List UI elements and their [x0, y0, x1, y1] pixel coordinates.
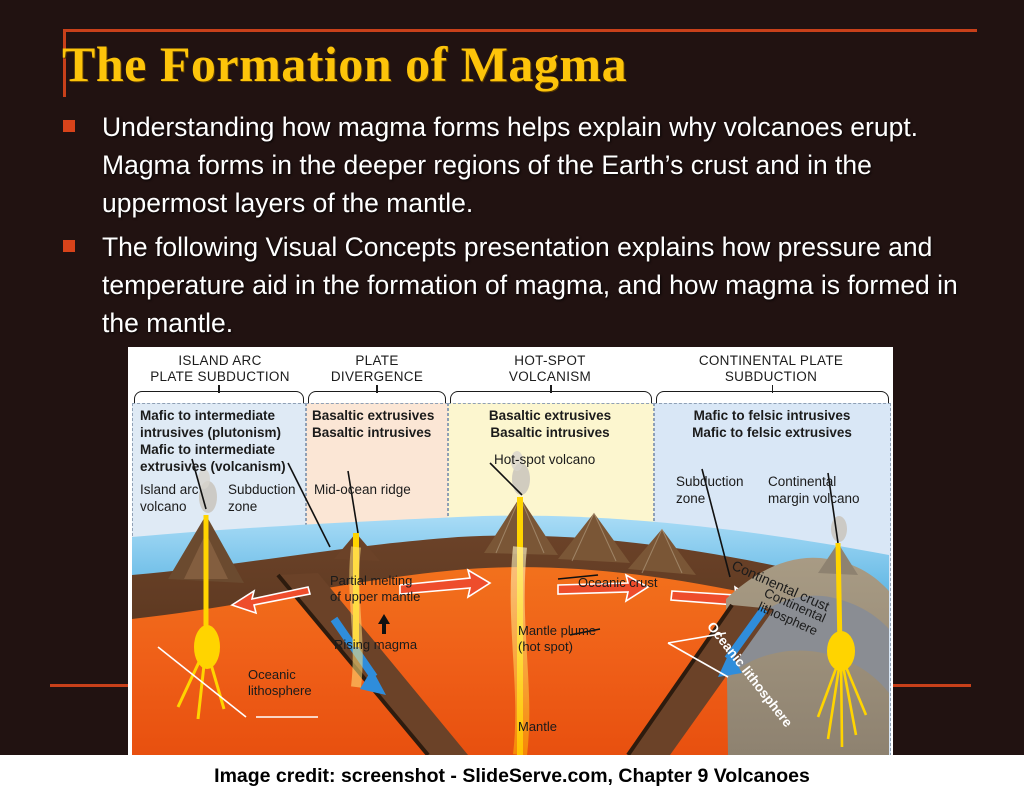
label-oceanic-crust: Oceanic crust	[578, 575, 657, 591]
rock-line: extrusives (volcanism)	[140, 458, 302, 475]
list-item: Understanding how magma forms helps expl…	[52, 108, 982, 222]
label-line: Partial melting	[330, 573, 420, 589]
label-line: Subduction	[676, 473, 744, 490]
rock-line: intrusives (plutonism)	[140, 424, 302, 441]
rock-line: Basaltic intrusives	[312, 424, 444, 441]
label-partial-melting: Partial melting of upper mantle	[330, 573, 420, 605]
label-mantle: Mantle	[518, 719, 557, 735]
label-line: Mantle plume	[518, 623, 596, 639]
label-line: volcano	[140, 498, 199, 515]
bullet-marker-icon	[63, 120, 75, 132]
panel4-rock-types: Mafic to felsic intrusives Mafic to fels…	[656, 407, 888, 441]
rock-line: Basaltic intrusives	[450, 424, 650, 441]
panel1-rock-types: Mafic to intermediate intrusives (pluton…	[140, 407, 302, 475]
label-rising-magma: Rising magma	[334, 637, 417, 653]
label-mid-ocean-ridge: Mid-ocean ridge	[314, 481, 411, 498]
rock-line: Mafic to felsic extrusives	[656, 424, 888, 441]
label-line: Island arc	[140, 481, 199, 498]
bullet-text: The following Visual Concepts presentati…	[102, 232, 958, 338]
accent-rule-right	[893, 684, 971, 687]
rock-line: Mafic to felsic intrusives	[656, 407, 888, 424]
label-line: zone	[676, 490, 744, 507]
label-mantle-plume: Mantle plume (hot spot)	[518, 623, 596, 655]
rock-line: Mafic to intermediate	[140, 441, 302, 458]
bullet-list: Understanding how magma forms helps expl…	[52, 108, 982, 348]
label-line: lithosphere	[248, 683, 312, 699]
label-line: of upper mantle	[330, 589, 420, 605]
rock-line: Basaltic extrusives	[312, 407, 444, 424]
panel3-rock-types: Basaltic extrusives Basaltic intrusives	[450, 407, 650, 441]
label-line: Subduction	[228, 481, 296, 498]
panel2-rock-types: Basaltic extrusives Basaltic intrusives	[312, 407, 444, 441]
rock-line: Mafic to intermediate	[140, 407, 302, 424]
label-line: Oceanic	[248, 667, 312, 683]
label-subduction-zone-left: Subduction zone	[228, 481, 296, 515]
label-line: zone	[228, 498, 296, 515]
page-title: The Formation of Magma	[62, 36, 962, 92]
title-rule-top	[63, 29, 977, 32]
label-island-arc-volcano: Island arc volcano	[140, 481, 199, 515]
bullet-text: Understanding how magma forms helps expl…	[102, 112, 918, 218]
rock-line: Basaltic extrusives	[450, 407, 650, 424]
label-subduction-zone-right: Subduction zone	[676, 473, 744, 507]
label-hot-spot-volcano: Hot-spot volcano	[494, 451, 595, 468]
label-line: margin volcano	[768, 490, 860, 507]
slide: The Formation of Magma Understanding how…	[0, 0, 1024, 797]
magma-formation-diagram: ISLAND ARC PLATE SUBDUCTION PLATE DIVERG…	[128, 347, 893, 755]
image-credit-caption: Image credit: screenshot - SlideServe.co…	[0, 757, 1024, 795]
list-item: The following Visual Concepts presentati…	[52, 228, 982, 342]
label-oceanic-lithosphere-left: Oceanic lithosphere	[248, 667, 312, 699]
rising-magma-arrow-icon	[376, 613, 392, 635]
label-line: (hot spot)	[518, 639, 596, 655]
label-continental-margin-volcano: Continental margin volcano	[768, 473, 860, 507]
bullet-marker-icon	[63, 240, 75, 252]
label-line: Continental	[768, 473, 860, 490]
